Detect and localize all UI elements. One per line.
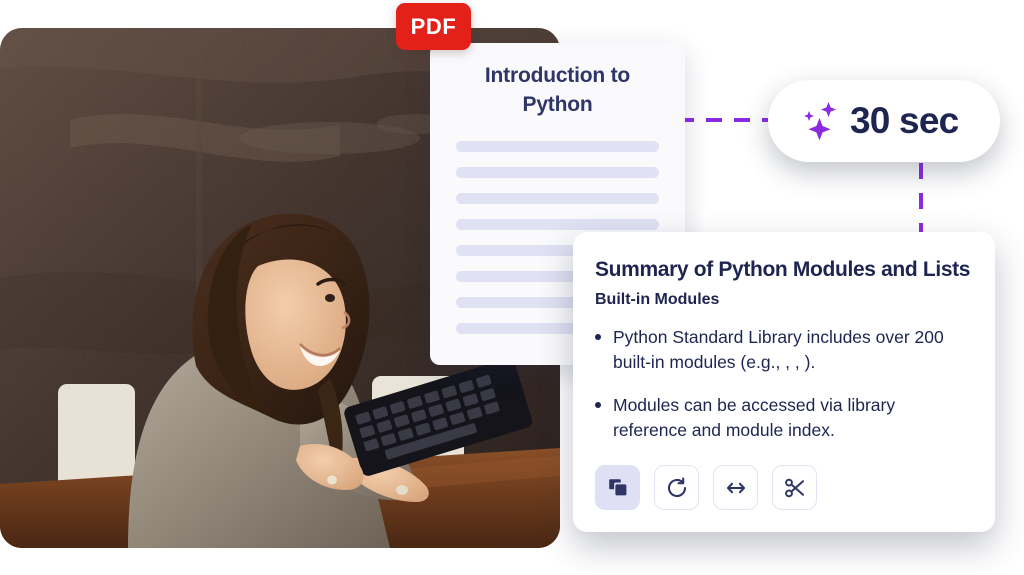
- summary-action-bar: [595, 465, 817, 510]
- document-placeholder-line: [456, 193, 659, 204]
- sparkles-icon: [796, 98, 842, 144]
- document-title-line-1: Introduction to: [452, 61, 663, 90]
- summary-bullet-list: Python Standard Library includes over 20…: [613, 325, 973, 443]
- document-title: Introduction to Python: [452, 61, 663, 119]
- summary-title: Summary of Python Modules and Lists: [595, 258, 973, 282]
- summary-bullet-item: Python Standard Library includes over 20…: [613, 325, 973, 375]
- document-placeholder-line: [456, 167, 659, 178]
- dashed-line-horizontal-icon: [678, 118, 774, 122]
- refresh-icon: [666, 477, 688, 499]
- document-placeholder-line: [456, 141, 659, 152]
- expand-button[interactable]: [713, 465, 758, 510]
- processing-time-label: 30 sec: [850, 100, 958, 142]
- summary-bullet-item: Modules can be accessed via library refe…: [613, 393, 973, 443]
- processing-time-pill: 30 sec: [768, 80, 1000, 162]
- dashed-connector-horizontal: [678, 118, 774, 122]
- summary-subtitle: Built-in Modules: [595, 291, 973, 309]
- copy-icon: [607, 477, 629, 499]
- scissors-icon: [784, 477, 806, 499]
- shorten-button[interactable]: [772, 465, 817, 510]
- document-placeholder-line: [456, 219, 659, 230]
- document-title-line-2: Python: [452, 90, 663, 119]
- summary-card[interactable]: Summary of Python Modules and Lists Buil…: [573, 232, 995, 532]
- regenerate-button[interactable]: [654, 465, 699, 510]
- pdf-badge-label: PDF: [411, 14, 457, 40]
- pdf-badge: PDF: [396, 3, 471, 50]
- copy-button[interactable]: [595, 465, 640, 510]
- arrows-lr-icon: [725, 477, 747, 499]
- illustration-stage: PDF Introduction to Python: [0, 0, 1024, 575]
